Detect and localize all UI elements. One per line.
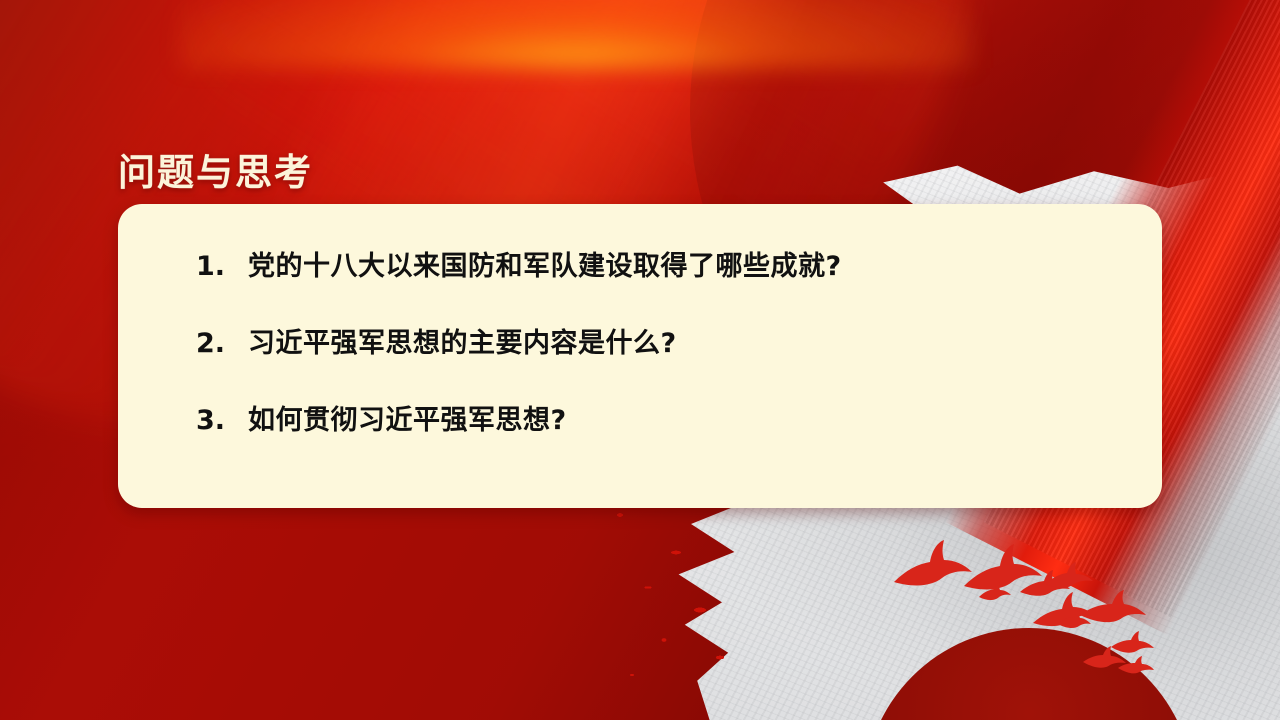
list-item-text: 党的十八大以来国防和军队建设取得了哪些成就? [248, 250, 842, 284]
list-item-text: 习近平强军思想的主要内容是什么? [248, 327, 677, 361]
question-panel: 1. 党的十八大以来国防和军队建设取得了哪些成就? 2. 习近平强军思想的主要内… [118, 204, 1162, 508]
question-list: 1. 党的十八大以来国防和军队建设取得了哪些成就? 2. 习近平强军思想的主要内… [196, 250, 1122, 437]
list-item: 3. 如何贯彻习近平强军思想? [196, 404, 1122, 438]
list-item-text: 如何贯彻习近平强军思想? [248, 404, 567, 438]
list-item: 2. 习近平强军思想的主要内容是什么? [196, 327, 1122, 361]
list-item: 1. 党的十八大以来国防和军队建设取得了哪些成就? [196, 250, 1122, 284]
list-item-number: 2. [196, 327, 248, 361]
list-item-number: 1. [196, 250, 248, 284]
list-item-number: 3. [196, 404, 248, 438]
page-title: 问题与思考 [118, 142, 313, 196]
presentation-slide: 问题与思考 1. 党的十八大以来国防和军队建设取得了哪些成就? 2. 习近平强军… [0, 0, 1280, 720]
orange-glow-decoration [179, 0, 973, 68]
